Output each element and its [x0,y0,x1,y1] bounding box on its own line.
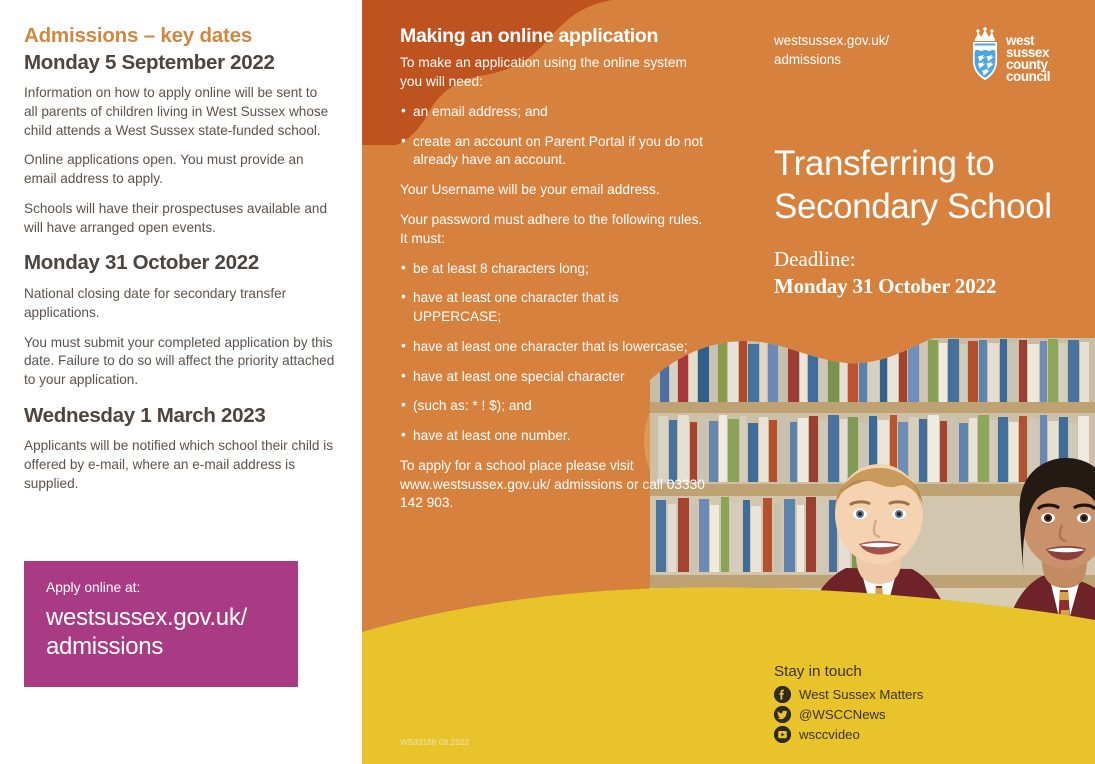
deadline-label: Deadline: [774,246,1094,272]
date-heading-2: Monday 31 October 2022 [24,251,334,276]
date-heading-3: Wednesday 1 March 2023 [24,404,334,429]
bullet-icon: • [401,337,406,356]
list-item: • have at least one number. [400,427,710,446]
bullet-icon: • [401,102,406,121]
list-item: • be at least 8 characters long; [400,260,710,279]
paragraph: You must submit your completed applicati… [24,334,344,390]
page-title: Admissions – key dates [24,24,334,48]
list-item-label: an email address; and [413,104,548,119]
list-item-label: have at least one number. [413,428,571,443]
paragraph: Applicants will be notified which school… [24,437,334,493]
paragraph: Schools will have their prospectuses ava… [24,200,334,238]
main-title: Transferring to Secondary School [774,143,1094,228]
promo-url[interactable]: westsussex.gov.uk/ admissions [46,603,276,662]
bullet-icon: • [401,259,406,278]
list-item-label: create an account on Parent Portal if yo… [413,134,703,168]
list-item-label: be at least 8 characters long; [413,261,589,276]
paragraph: National closing date for secondary tran… [24,285,334,323]
list-item: • have at least one character that is UP… [400,289,710,327]
deadline-date: Monday 31 October 2022 [774,273,1094,299]
list-item: • create an account on Parent Portal if … [400,133,710,171]
paragraph: Online applications open. You must provi… [24,151,334,189]
closing-paragraph: To apply for a school place please visit… [400,457,710,513]
paragraph: Information on how to apply online will … [24,84,334,140]
left-column: Admissions – key dates Monday 5 Septembe… [0,0,362,764]
social-label: @WSCCNews [799,706,886,723]
list-item-label: have at least one special character [413,369,625,384]
leaflet-page: Admissions – key dates Monday 5 Septembe… [0,0,1095,764]
youtube-icon [774,726,791,743]
bullet-icon: • [401,132,406,151]
apply-online-promo-box[interactable]: Apply online at: westsussex.gov.uk/ admi… [24,561,298,687]
username-note: Your Username will be your email address… [400,181,710,200]
twitter-icon [774,706,791,723]
social-label: West Sussex Matters [799,686,923,703]
social-label: wsccvideo [799,726,860,743]
header-url[interactable]: westsussex.gov.uk/ admissions [774,32,954,69]
password-intro: Your password must adhere to the followi… [400,211,710,249]
list-item-label: (such as: * ! $); and [413,398,532,413]
bullet-icon: • [401,288,406,307]
stay-in-touch-block: Stay in touch West Sussex Matters [774,662,923,746]
reference-code: WS33186 08.2022 [400,738,469,747]
promo-label: Apply online at: [46,579,276,597]
list-item-label: have at least one character that is lowe… [413,339,688,354]
social-link-facebook[interactable]: West Sussex Matters [774,686,923,703]
online-application-content: Making an online application To make an … [400,25,710,524]
middle-intro: To make an application using the online … [400,54,710,92]
date-heading-1: Monday 5 September 2022 [24,51,334,76]
social-link-youtube[interactable]: wsccvideo [774,726,923,743]
orange-panel: Making an online application To make an … [362,0,1095,764]
svg-text:council: council [1006,69,1050,84]
middle-heading: Making an online application [400,25,710,48]
social-link-twitter[interactable]: @WSCCNews [774,706,923,723]
key-dates-content: Admissions – key dates Monday 5 Septembe… [24,24,334,505]
facebook-icon [774,686,791,703]
west-sussex-county-council-logo: west sussex county council [969,27,1079,89]
title-block: Transferring to Secondary School Deadlin… [774,143,1094,299]
list-item: • (such as: * ! $); and [400,397,710,416]
bullet-icon: • [401,396,406,415]
yellow-wave-shape [362,554,1095,764]
list-item: • have at least one character that is lo… [400,338,710,357]
stay-in-touch-title: Stay in touch [774,662,923,682]
bullet-icon: • [401,426,406,445]
bullet-icon: • [401,367,406,386]
list-item-label: have at least one character that is UPPE… [413,290,618,324]
list-item: • have at least one special character [400,368,710,387]
list-item: • an email address; and [400,103,710,122]
